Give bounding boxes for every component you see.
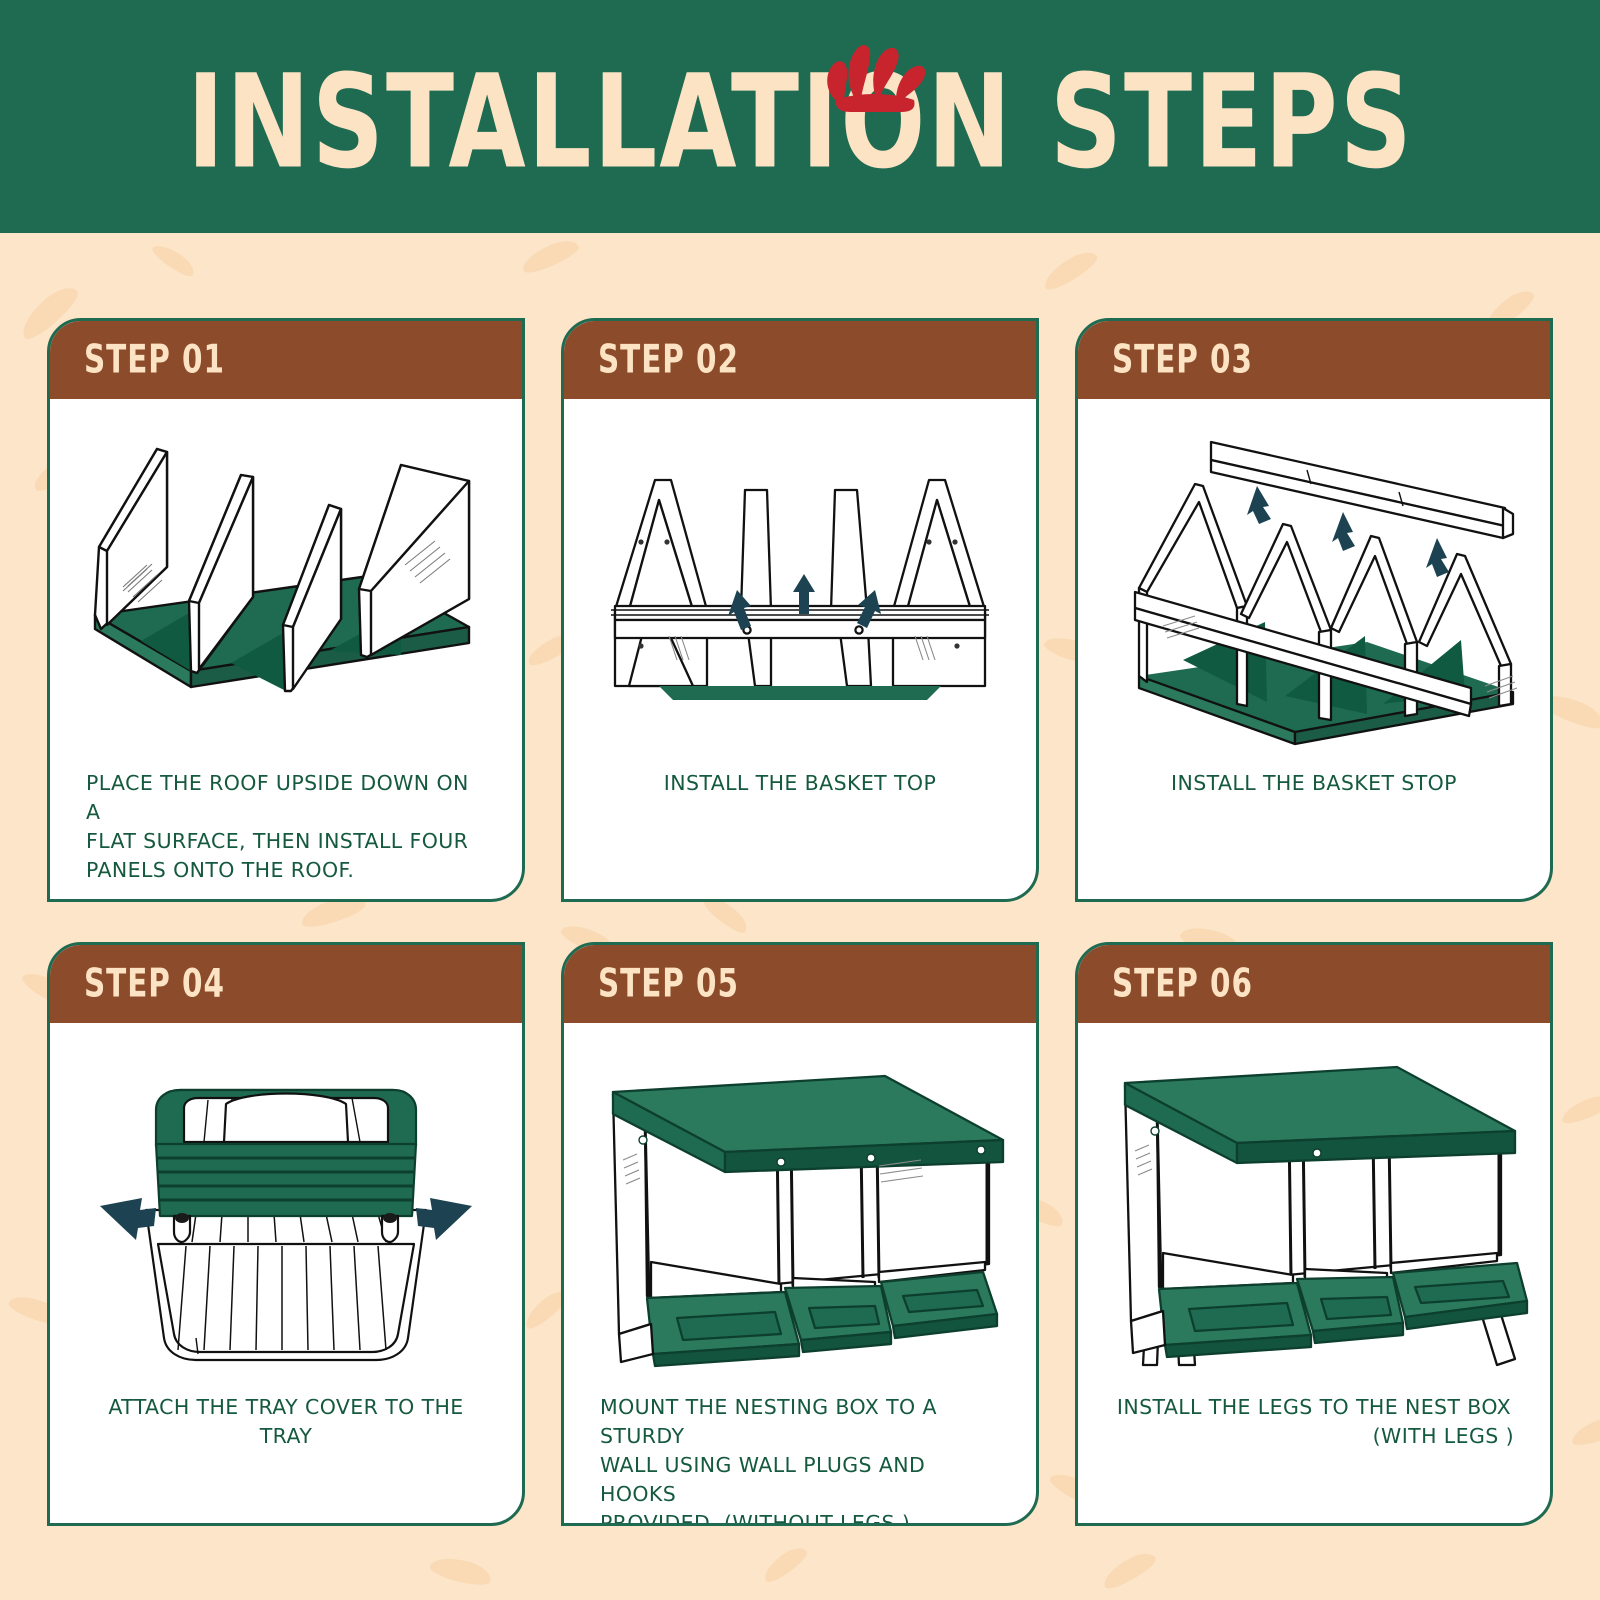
step-card-04[interactable]: STEP 04	[47, 942, 525, 1526]
step-illustration-01	[50, 399, 522, 769]
caption-line: INSTALL THE LEGS TO THE NEST BOX	[1114, 1393, 1514, 1422]
caption-line: ATTACH THE TRAY COVER TO THE TRAY	[86, 1393, 486, 1451]
step-body-04: ATTACH THE TRAY COVER TO THE TRAY	[50, 1023, 522, 1523]
caption-line: FLAT SURFACE, THEN INSTALL FOUR	[86, 827, 486, 856]
step-card-01[interactable]: STEP 01	[47, 318, 525, 902]
step-header-02: STEP 02	[564, 321, 1036, 399]
steps-grid: STEP 01	[47, 318, 1553, 1558]
step-body-06: INSTALL THE LEGS TO THE NEST BOX (WITH L…	[1078, 1023, 1550, 1523]
step-caption-06: INSTALL THE LEGS TO THE NEST BOX (WITH L…	[1078, 1393, 1550, 1451]
feather-decoration	[518, 235, 581, 276]
header-banner: INSTALLATION STEPS	[0, 0, 1600, 233]
step-header-05: STEP 05	[564, 945, 1036, 1023]
arrow-left	[416, 1198, 472, 1240]
feather-decoration	[1039, 246, 1101, 293]
step-card-06[interactable]: STEP 06	[1075, 942, 1553, 1526]
step-caption-04: ATTACH THE TRAY COVER TO THE TRAY	[50, 1393, 522, 1451]
step-label-03: STEP 03	[1112, 338, 1253, 383]
step-label-02: STEP 02	[598, 338, 739, 383]
step-card-03[interactable]: STEP 03	[1075, 318, 1553, 902]
caption-line: MOUNT THE NESTING BOX TO A STURDY	[600, 1393, 1000, 1451]
caption-line: (WITH LEGS )	[1114, 1422, 1514, 1451]
step-illustration-06	[1078, 1023, 1550, 1393]
caption-line: INSTALL THE BASKET TOP	[600, 769, 1000, 798]
step-body-05: MOUNT THE NESTING BOX TO A STURDY WALL U…	[564, 1023, 1036, 1526]
step-label-06: STEP 06	[1112, 962, 1253, 1007]
caption-line: PLACE THE ROOF UPSIDE DOWN ON A	[86, 769, 486, 827]
step-illustration-04	[50, 1023, 522, 1393]
step-label-05: STEP 05	[598, 962, 739, 1007]
step-caption-05: MOUNT THE NESTING BOX TO A STURDY WALL U…	[564, 1393, 1036, 1526]
caption-line: WALL USING WALL PLUGS AND HOOKS	[600, 1451, 1000, 1509]
step-body-01: PLACE THE ROOF UPSIDE DOWN ON A FLAT SUR…	[50, 399, 522, 899]
installation-steps-poster: INSTALLATION STEPS STEP 01	[0, 0, 1600, 1600]
header-title-wrap: INSTALLATION STEPS	[0, 0, 1600, 233]
step-caption-02: INSTALL THE BASKET TOP	[564, 769, 1036, 798]
caption-line: PANELS ONTO THE ROOF.	[86, 856, 486, 885]
step-body-02: INSTALL THE BASKET TOP	[564, 399, 1036, 899]
step-caption-01: PLACE THE ROOF UPSIDE DOWN ON A FLAT SUR…	[50, 769, 522, 885]
step-header-01: STEP 01	[50, 321, 522, 399]
feather-decoration	[1568, 1411, 1600, 1449]
step-illustration-03	[1078, 399, 1550, 769]
page-title: INSTALLATION STEPS	[187, 47, 1414, 197]
caption-line: PROVIDED. (WITHOUT LEGS )	[600, 1509, 1000, 1526]
step-header-04: STEP 04	[50, 945, 522, 1023]
feather-decoration	[150, 239, 198, 280]
step-header-03: STEP 03	[1078, 321, 1550, 399]
feather-decoration	[1559, 1091, 1600, 1126]
step-illustration-05	[564, 1023, 1036, 1393]
step-caption-03: INSTALL THE BASKET STOP	[1078, 769, 1550, 798]
step-illustration-02	[564, 399, 1036, 769]
step-body-03: INSTALL THE BASKET STOP	[1078, 399, 1550, 899]
step-card-05[interactable]: STEP 05	[561, 942, 1039, 1526]
step-header-06: STEP 06	[1078, 945, 1550, 1023]
step-label-04: STEP 04	[84, 962, 225, 1007]
caption-line: INSTALL THE BASKET STOP	[1114, 769, 1514, 798]
arrow-right	[100, 1198, 156, 1240]
step-card-02[interactable]: STEP 02	[561, 318, 1039, 902]
step-label-01: STEP 01	[84, 338, 225, 383]
